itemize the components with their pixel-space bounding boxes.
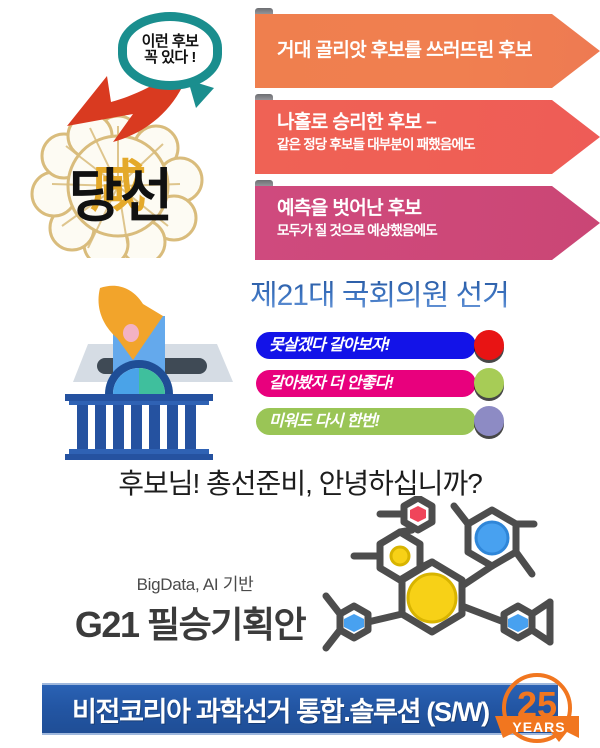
election-title: 제21대 국회의원 선거 (250, 281, 580, 311)
slogan-row: 못살겠다 갈아보자! (256, 330, 516, 362)
seal-word: 당선 (30, 168, 210, 226)
ribbon-item: 예측을 벗어난 후보 모두가 질 것으로 예상했음에도 (255, 186, 600, 260)
ribbon-3: 예측을 벗어난 후보 모두가 질 것으로 예상했음에도 (255, 186, 600, 260)
slogan-text-3: 미워도 다시 한번! (269, 414, 379, 430)
brand-subtitle: BigData, AI 기반 (70, 570, 320, 595)
ribbon-item: 나홀로 승리한 후보 – 같은 정당 후보들 대부분이 패했음에도 (255, 100, 600, 174)
bottom-banner: 비전코리아 과학선거 통합.솔루션 (S/W) (42, 683, 558, 735)
years-badge: 25 YEARS (489, 672, 585, 746)
slogan-dot-2 (474, 368, 504, 398)
ribbon-2: 나홀로 승리한 후보 – 같은 정당 후보들 대부분이 패했음에도 (255, 100, 600, 174)
speech-bubble-text: 이런 후보 꼭 있다 ! (142, 34, 199, 66)
slogan-text-1: 못살겠다 갈아보자! (269, 338, 390, 354)
ballot-box-icon (55, 282, 250, 462)
slogan-row: 갈아봤자 더 안좋다! (256, 368, 516, 400)
slogan-bar-1: 못살겠다 갈아보자! (256, 332, 476, 359)
slogan-bar-3: 미워도 다시 한번! (256, 408, 476, 435)
years-badge-label: YEARS (512, 719, 565, 735)
slogan-list: 못살겠다 갈아보자! 갈아봤자 더 안좋다! 미워도 다시 한번! (256, 330, 516, 444)
brand-title: G21 필승기획안 (60, 596, 320, 648)
slogan-dot-1 (474, 330, 504, 360)
poster-root: 이런 후보 꼭 있다 ! 咸 당선 거대 골리앗 후보를 쓰러뜨린 후보 (0, 0, 600, 748)
tagline: 후보님! 총선준비, 안녕하십니까? (0, 462, 600, 502)
ribbon-2-sub: 같은 정당 후보들 대부분이 패했음에도 (277, 137, 600, 154)
slogan-row: 미워도 다시 한번! (256, 406, 516, 438)
ribbon-1: 거대 골리앗 후보를 쓰러뜨린 후보 (255, 14, 600, 88)
slogan-bar-2: 갈아봤자 더 안좋다! (256, 370, 476, 397)
ribbon-3-main: 예측을 벗어난 후보 (277, 197, 600, 221)
molecule-network-graphic (318, 496, 588, 686)
bottom-banner-text: 비전코리아 과학선거 통합.솔루션 (S/W) (42, 690, 489, 729)
ribbon-1-main: 거대 골리앗 후보를 쓰러뜨린 후보 (277, 39, 532, 63)
ribbon-item: 거대 골리앗 후보를 쓰러뜨린 후보 (255, 14, 600, 88)
speech-bubble: 이런 후보 꼭 있다 ! (118, 12, 222, 90)
slogan-text-2: 갈아봤자 더 안좋다! (269, 376, 393, 392)
ribbon-list: 거대 골리앗 후보를 쓰러뜨린 후보 나홀로 승리한 후보 – 같은 정당 후보… (255, 14, 600, 272)
slogan-dot-3 (474, 406, 504, 436)
ribbon-2-main: 나홀로 승리한 후보 – (277, 111, 600, 135)
ribbon-3-sub: 모두가 질 것으로 예상했음에도 (277, 223, 600, 240)
